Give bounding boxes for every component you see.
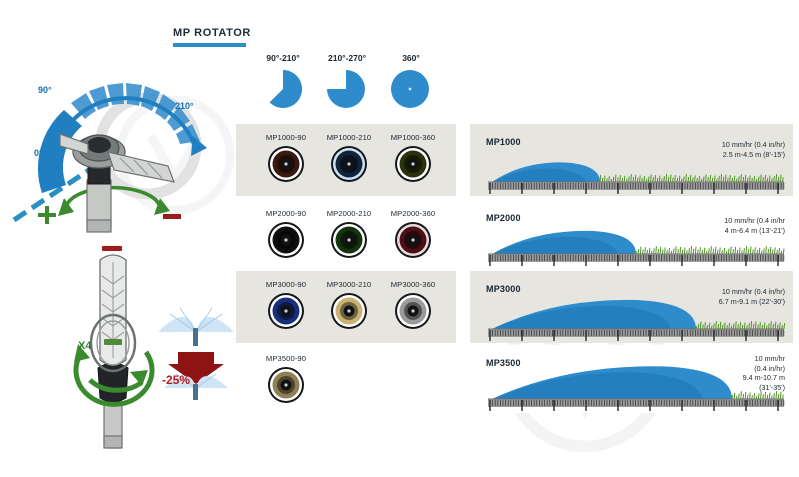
infographic-canvas: MP ROTATOR: [0, 0, 799, 477]
spec-line: 10 mm/hr: [743, 354, 785, 364]
nozzle-item[interactable]: MP2000-90: [254, 209, 318, 264]
nozzle-face-icon: [330, 145, 368, 183]
arc-type-label-360: 360°: [382, 53, 440, 63]
series-name: MP1000: [486, 137, 521, 147]
spray-profile-chart: [486, 148, 786, 194]
page-title-block: MP ROTATOR: [173, 27, 251, 47]
pie-90-210-icon: [262, 68, 304, 110]
nozzle-label: MP3000-360: [381, 280, 445, 289]
angle-label-90: 90°: [38, 85, 52, 95]
nozzle-item[interactable]: MP3500-90: [254, 354, 318, 409]
turns-label: X4: [78, 340, 91, 352]
nozzle-label: MP1000-210: [317, 133, 381, 142]
series-name: MP3000: [486, 284, 521, 294]
nozzle-label: MP3500-90: [254, 354, 318, 363]
nozzle-face-icon: [394, 145, 432, 183]
angle-label-0: 0°: [34, 148, 43, 158]
nozzle-face-icon: [330, 292, 368, 330]
nozzle-face-icon: [267, 221, 305, 259]
nozzle-face-icon: [267, 292, 305, 330]
nozzle-label: MP1000-360: [381, 133, 445, 142]
title-underline: [173, 43, 246, 47]
nozzle-face-icon: [267, 145, 305, 183]
arc-type-label-90-210: 90°-210°: [253, 53, 313, 63]
nozzle-face-icon: [394, 292, 432, 330]
pie-360-icon: [389, 68, 431, 110]
nozzle-item[interactable]: MP2000-210: [317, 209, 381, 264]
nozzle-label: MP2000-90: [254, 209, 318, 218]
reduction-label: -25%: [162, 373, 190, 387]
pie-210-270-icon: [325, 68, 367, 110]
arc-type-label-210-270: 210°-270°: [316, 53, 378, 63]
nozzle-item[interactable]: MP2000-360: [381, 209, 445, 264]
nozzle-label: MP3000-90: [254, 280, 318, 289]
page-title: MP ROTATOR: [173, 27, 251, 39]
spray-profile-chart: [486, 365, 786, 411]
nozzle-item[interactable]: MP3000-90: [254, 280, 318, 335]
angle-label-210: 210°: [175, 101, 194, 111]
spray-profile-chart: [486, 220, 786, 266]
nozzle-face-icon: [394, 221, 432, 259]
nozzle-label: MP2000-360: [381, 209, 445, 218]
nozzle-item[interactable]: MP3000-210: [317, 280, 381, 335]
radius-adjustment-illustration: [30, 240, 245, 455]
spray-profile-chart: [486, 295, 786, 341]
arc-adjustment-illustration: [8, 48, 238, 238]
nozzle-face-icon: [267, 366, 305, 404]
nozzle-item[interactable]: MP1000-210: [317, 133, 381, 188]
nozzle-item[interactable]: MP1000-90: [254, 133, 318, 188]
nozzle-label: MP3000-210: [317, 280, 381, 289]
nozzle-item[interactable]: MP1000-360: [381, 133, 445, 188]
nozzle-face-icon: [330, 221, 368, 259]
nozzle-label: MP1000-90: [254, 133, 318, 142]
nozzle-label: MP2000-210: [317, 209, 381, 218]
nozzle-item[interactable]: MP3000-360: [381, 280, 445, 335]
